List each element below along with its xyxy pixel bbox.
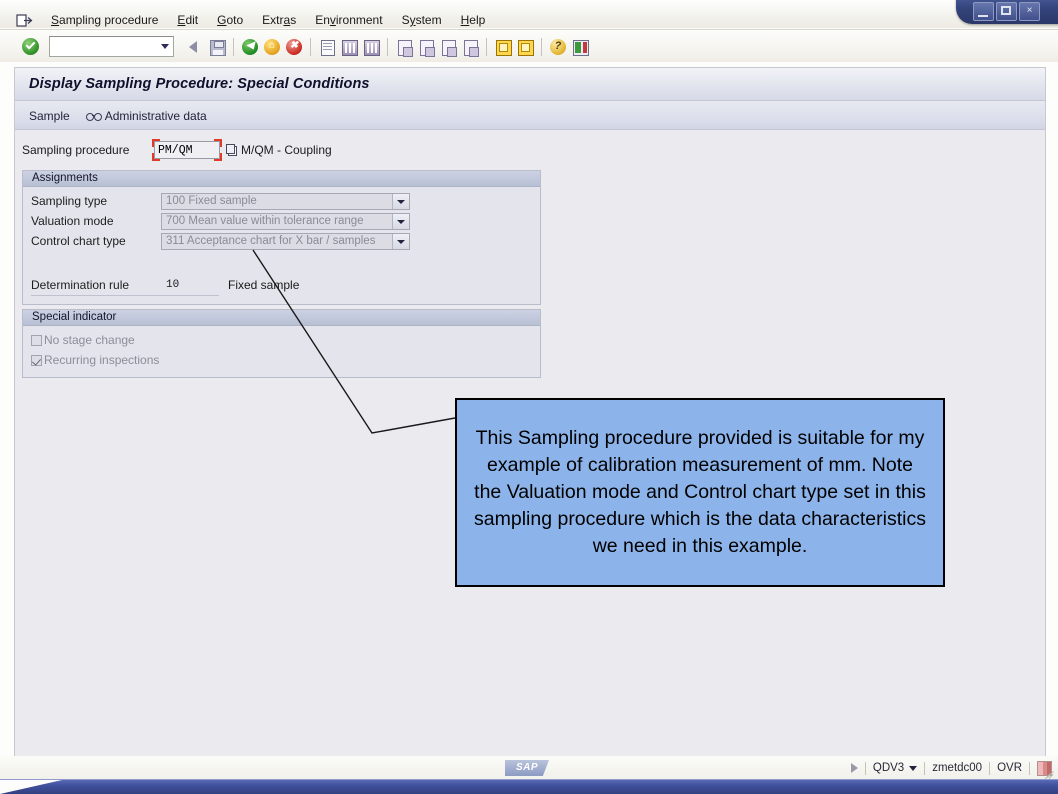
statusbar-right: QDV3 zmetdc00 OVR <box>851 756 1052 780</box>
tab-row: Sample Administrative data <box>15 102 1045 130</box>
customize-layout-button[interactable] <box>570 37 590 57</box>
chevron-down-icon[interactable] <box>392 194 409 209</box>
control-chart-type-dropdown[interactable]: 311 Acceptance chart for X bar / samples <box>161 233 410 250</box>
control-chart-type-label: Control chart type <box>23 234 161 248</box>
tab-sample[interactable]: Sample <box>29 109 70 123</box>
special-indicator-group-header: Special indicator <box>23 310 540 326</box>
statusbar-client: zmetdc00 <box>932 762 982 774</box>
determination-rule-value: 10 <box>166 279 179 291</box>
menu-help[interactable]: Help <box>452 12 496 28</box>
menubar-divider <box>0 29 1058 30</box>
sampling-procedure-input[interactable] <box>155 143 219 159</box>
no-stage-change-row[interactable]: No stage change <box>23 331 135 349</box>
sampling-type-label: Sampling type <box>23 194 161 208</box>
menu-environment[interactable]: Environment <box>306 12 392 28</box>
toolbar: ◀ ⌂ ✖ ? <box>0 31 1058 62</box>
menu-edit[interactable]: Edit <box>168 12 208 28</box>
minimize-button[interactable] <box>973 2 994 21</box>
command-field[interactable] <box>49 36 174 57</box>
chevron-down-icon[interactable] <box>392 234 409 249</box>
menu-sampling-procedure[interactable]: Sampling procedure <box>42 12 168 28</box>
create-shortcut-button[interactable] <box>515 37 535 57</box>
recurring-inspections-checkbox[interactable] <box>31 355 42 366</box>
determination-rule-label: Determination rule <box>31 278 129 292</box>
statusbar-system[interactable]: QDV3 <box>873 762 904 774</box>
assignments-group: Assignments Sampling type 100 Fixed samp… <box>22 170 541 305</box>
close-button[interactable]: × <box>1019 2 1040 21</box>
server-triangle-icon <box>851 763 858 773</box>
statusbar: SAP QDV3 zmetdc00 OVR <box>0 756 1058 780</box>
page-title-bar: Display Sampling Procedure: Special Cond… <box>15 68 1045 101</box>
special-indicator-group: Special indicator No stage change Recurr… <box>22 309 541 378</box>
sampling-type-value: 100 Fixed sample <box>162 195 257 207</box>
determination-rule-description: Fixed sample <box>228 278 299 292</box>
back-button[interactable] <box>185 37 205 57</box>
valuation-mode-label: Valuation mode <box>23 214 161 228</box>
enter-icon[interactable] <box>22 38 39 55</box>
find-button[interactable] <box>339 37 359 57</box>
assignments-group-header: Assignments <box>23 171 540 187</box>
menu-goto[interactable]: Goto <box>208 12 253 28</box>
last-page-button[interactable] <box>460 37 480 57</box>
sampling-procedure-row: Sampling procedure M/QM - Coupling <box>22 139 332 161</box>
maximize-button[interactable] <box>996 2 1017 21</box>
system-menu-icon[interactable] <box>16 13 33 28</box>
glasses-icon <box>86 111 102 121</box>
annotation-callout: This Sampling procedure provided is suit… <box>455 398 945 587</box>
sap-gui-window: × Sampling procedure Edit Goto Extras En… <box>0 0 1058 794</box>
no-stage-change-checkbox[interactable] <box>31 335 42 346</box>
no-stage-change-label: No stage change <box>44 333 135 347</box>
statusbar-insert-mode[interactable]: OVR <box>997 762 1022 774</box>
exit-button[interactable]: ⌂ <box>262 37 282 57</box>
menubar: Sampling procedure Edit Goto Extras Envi… <box>0 11 495 29</box>
resize-grip[interactable] <box>1042 764 1056 778</box>
first-page-button[interactable] <box>394 37 414 57</box>
valuation-mode-value: 700 Mean value within tolerance range <box>162 215 364 227</box>
control-chart-type-row: Control chart type 311 Acceptance chart … <box>23 231 540 251</box>
tab-administrative-data[interactable]: Administrative data <box>86 109 207 123</box>
save-button[interactable] <box>207 37 227 57</box>
sap-logo: SAP <box>505 760 549 776</box>
window-controls: × <box>954 0 1058 28</box>
page-title: Display Sampling Procedure: Special Cond… <box>29 76 370 92</box>
sampling-procedure-field[interactable] <box>154 141 220 159</box>
help-button[interactable]: ? <box>548 37 568 57</box>
print-button[interactable] <box>317 37 337 57</box>
chevron-down-icon[interactable] <box>161 44 169 49</box>
next-page-button[interactable] <box>438 37 458 57</box>
valuation-mode-row: Valuation mode 700 Mean value within tol… <box>23 211 540 231</box>
sampling-procedure-description: M/QM - Coupling <box>241 143 332 157</box>
tab-sample-label: Sample <box>29 109 70 123</box>
sampling-type-dropdown[interactable]: 100 Fixed sample <box>161 193 410 210</box>
control-chart-type-value: 311 Acceptance chart for X bar / samples <box>162 235 375 247</box>
valuation-mode-dropdown[interactable]: 700 Mean value within tolerance range <box>161 213 410 230</box>
chevron-down-icon[interactable] <box>392 214 409 229</box>
desktop-taskbar <box>0 779 1058 794</box>
sampling-procedure-label: Sampling procedure <box>22 143 154 157</box>
determination-rule-row: Determination rule 10 Fixed sample <box>23 276 540 296</box>
chevron-down-icon[interactable] <box>909 766 917 771</box>
cancel-button[interactable]: ✖ <box>284 37 304 57</box>
find-next-button[interactable] <box>361 37 381 57</box>
back-green-button[interactable]: ◀ <box>240 37 260 57</box>
previous-page-button[interactable] <box>416 37 436 57</box>
annotation-text: This Sampling procedure provided is suit… <box>471 425 929 560</box>
recurring-inspections-label: Recurring inspections <box>44 353 159 367</box>
menu-system[interactable]: System <box>393 12 452 28</box>
determination-rule-underline <box>31 295 219 296</box>
tab-administrative-data-label: Administrative data <box>105 109 207 123</box>
recurring-inspections-row[interactable]: Recurring inspections <box>23 351 159 369</box>
sampling-type-row: Sampling type 100 Fixed sample <box>23 191 540 211</box>
value-help-icon[interactable] <box>226 144 237 156</box>
menu-extras[interactable]: Extras <box>253 12 306 28</box>
create-session-button[interactable] <box>493 37 513 57</box>
